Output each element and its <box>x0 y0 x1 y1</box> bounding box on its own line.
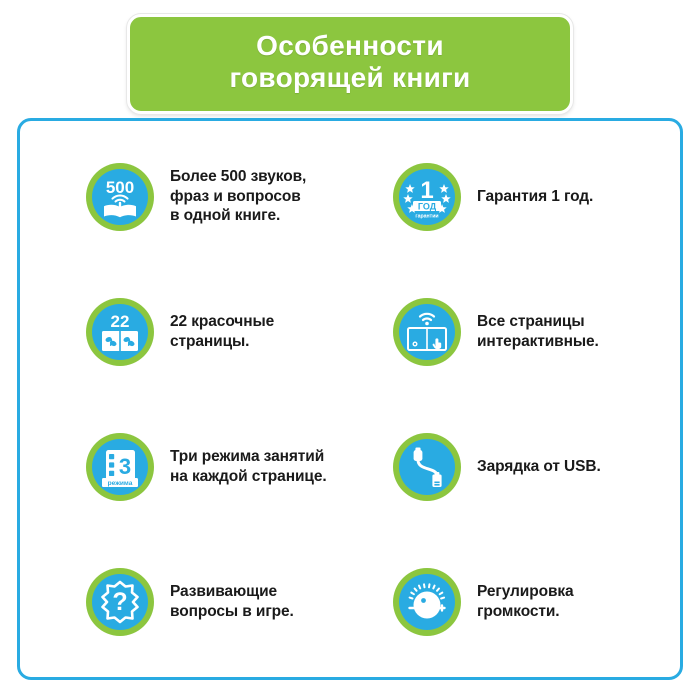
book-22-pages-icon: 22 <box>86 298 154 366</box>
svg-text:22: 22 <box>111 312 130 331</box>
feature-caption: Все страницы интерактивные. <box>477 312 599 351</box>
feature-caption: 22 красочные страницы. <box>170 312 274 351</box>
header-box: Особенности говорящей книги <box>127 14 573 114</box>
feature-item-three-modes: 3 режима Три режима занятий на каждой ст… <box>86 399 379 534</box>
svg-text:ГОД: ГОД <box>418 201 437 211</box>
usb-charging-icon <box>393 433 461 501</box>
feature-caption: Зарядка от USB. <box>477 457 601 477</box>
features-panel: 500 Более 500 звуков, фраз и вопросов в … <box>17 118 683 680</box>
feature-caption: Гарантия 1 год. <box>477 187 593 207</box>
interactive-pages-icon <box>393 298 461 366</box>
question-mark-icon: ? <box>86 568 154 636</box>
warranty-1-year-icon: 1 ГОД гарантии <box>393 163 461 231</box>
badge-disc: 500 <box>92 169 148 225</box>
feature-item-volume-control: Регулировка громкости. <box>379 534 672 669</box>
feature-item-22-pages: 22 <box>86 264 379 399</box>
header-title-line-2: говорящей книги <box>140 62 560 94</box>
badge-disc: 22 <box>92 304 148 360</box>
badge-disc <box>399 439 455 495</box>
svg-text:?: ? <box>112 588 127 616</box>
feature-item-warranty: 1 ГОД гарантии Гарантия 1 год. <box>379 129 672 264</box>
svg-text:500: 500 <box>106 178 134 197</box>
feature-item-500-sounds: 500 Более 500 звуков, фраз и вопросов в … <box>86 129 379 264</box>
three-modes-icon: 3 режима <box>86 433 154 501</box>
svg-text:3: 3 <box>119 454 131 479</box>
feature-item-interactive-pages: Все страницы интерактивные. <box>379 264 672 399</box>
badge-disc: 3 режима <box>92 439 148 495</box>
svg-text:1: 1 <box>420 177 433 204</box>
feature-item-developing-questions: ? Развивающие вопросы в игре. <box>86 534 379 669</box>
volume-knob-icon <box>393 568 461 636</box>
svg-text:режима: режима <box>108 480 133 487</box>
header-title-line-1: Особенности <box>140 30 560 62</box>
badge-disc <box>399 304 455 360</box>
feature-caption: Более 500 звуков, фраз и вопросов в одно… <box>170 167 306 226</box>
feature-item-usb-charging: Зарядка от USB. <box>379 399 672 534</box>
badge-disc: 1 ГОД гарантии <box>399 169 455 225</box>
feature-caption: Развивающие вопросы в игре. <box>170 582 294 621</box>
badge-disc: ? <box>92 574 148 630</box>
feature-caption: Регулировка громкости. <box>477 582 574 621</box>
feature-caption: Три режима занятий на каждой странице. <box>170 447 327 486</box>
book-500-sound-icon: 500 <box>86 163 154 231</box>
header-banner: Особенности говорящей книги <box>0 0 700 112</box>
svg-text:гарантии: гарантии <box>415 213 438 219</box>
features-grid: 500 Более 500 звуков, фраз и вопросов в … <box>20 121 680 677</box>
badge-disc <box>399 574 455 630</box>
